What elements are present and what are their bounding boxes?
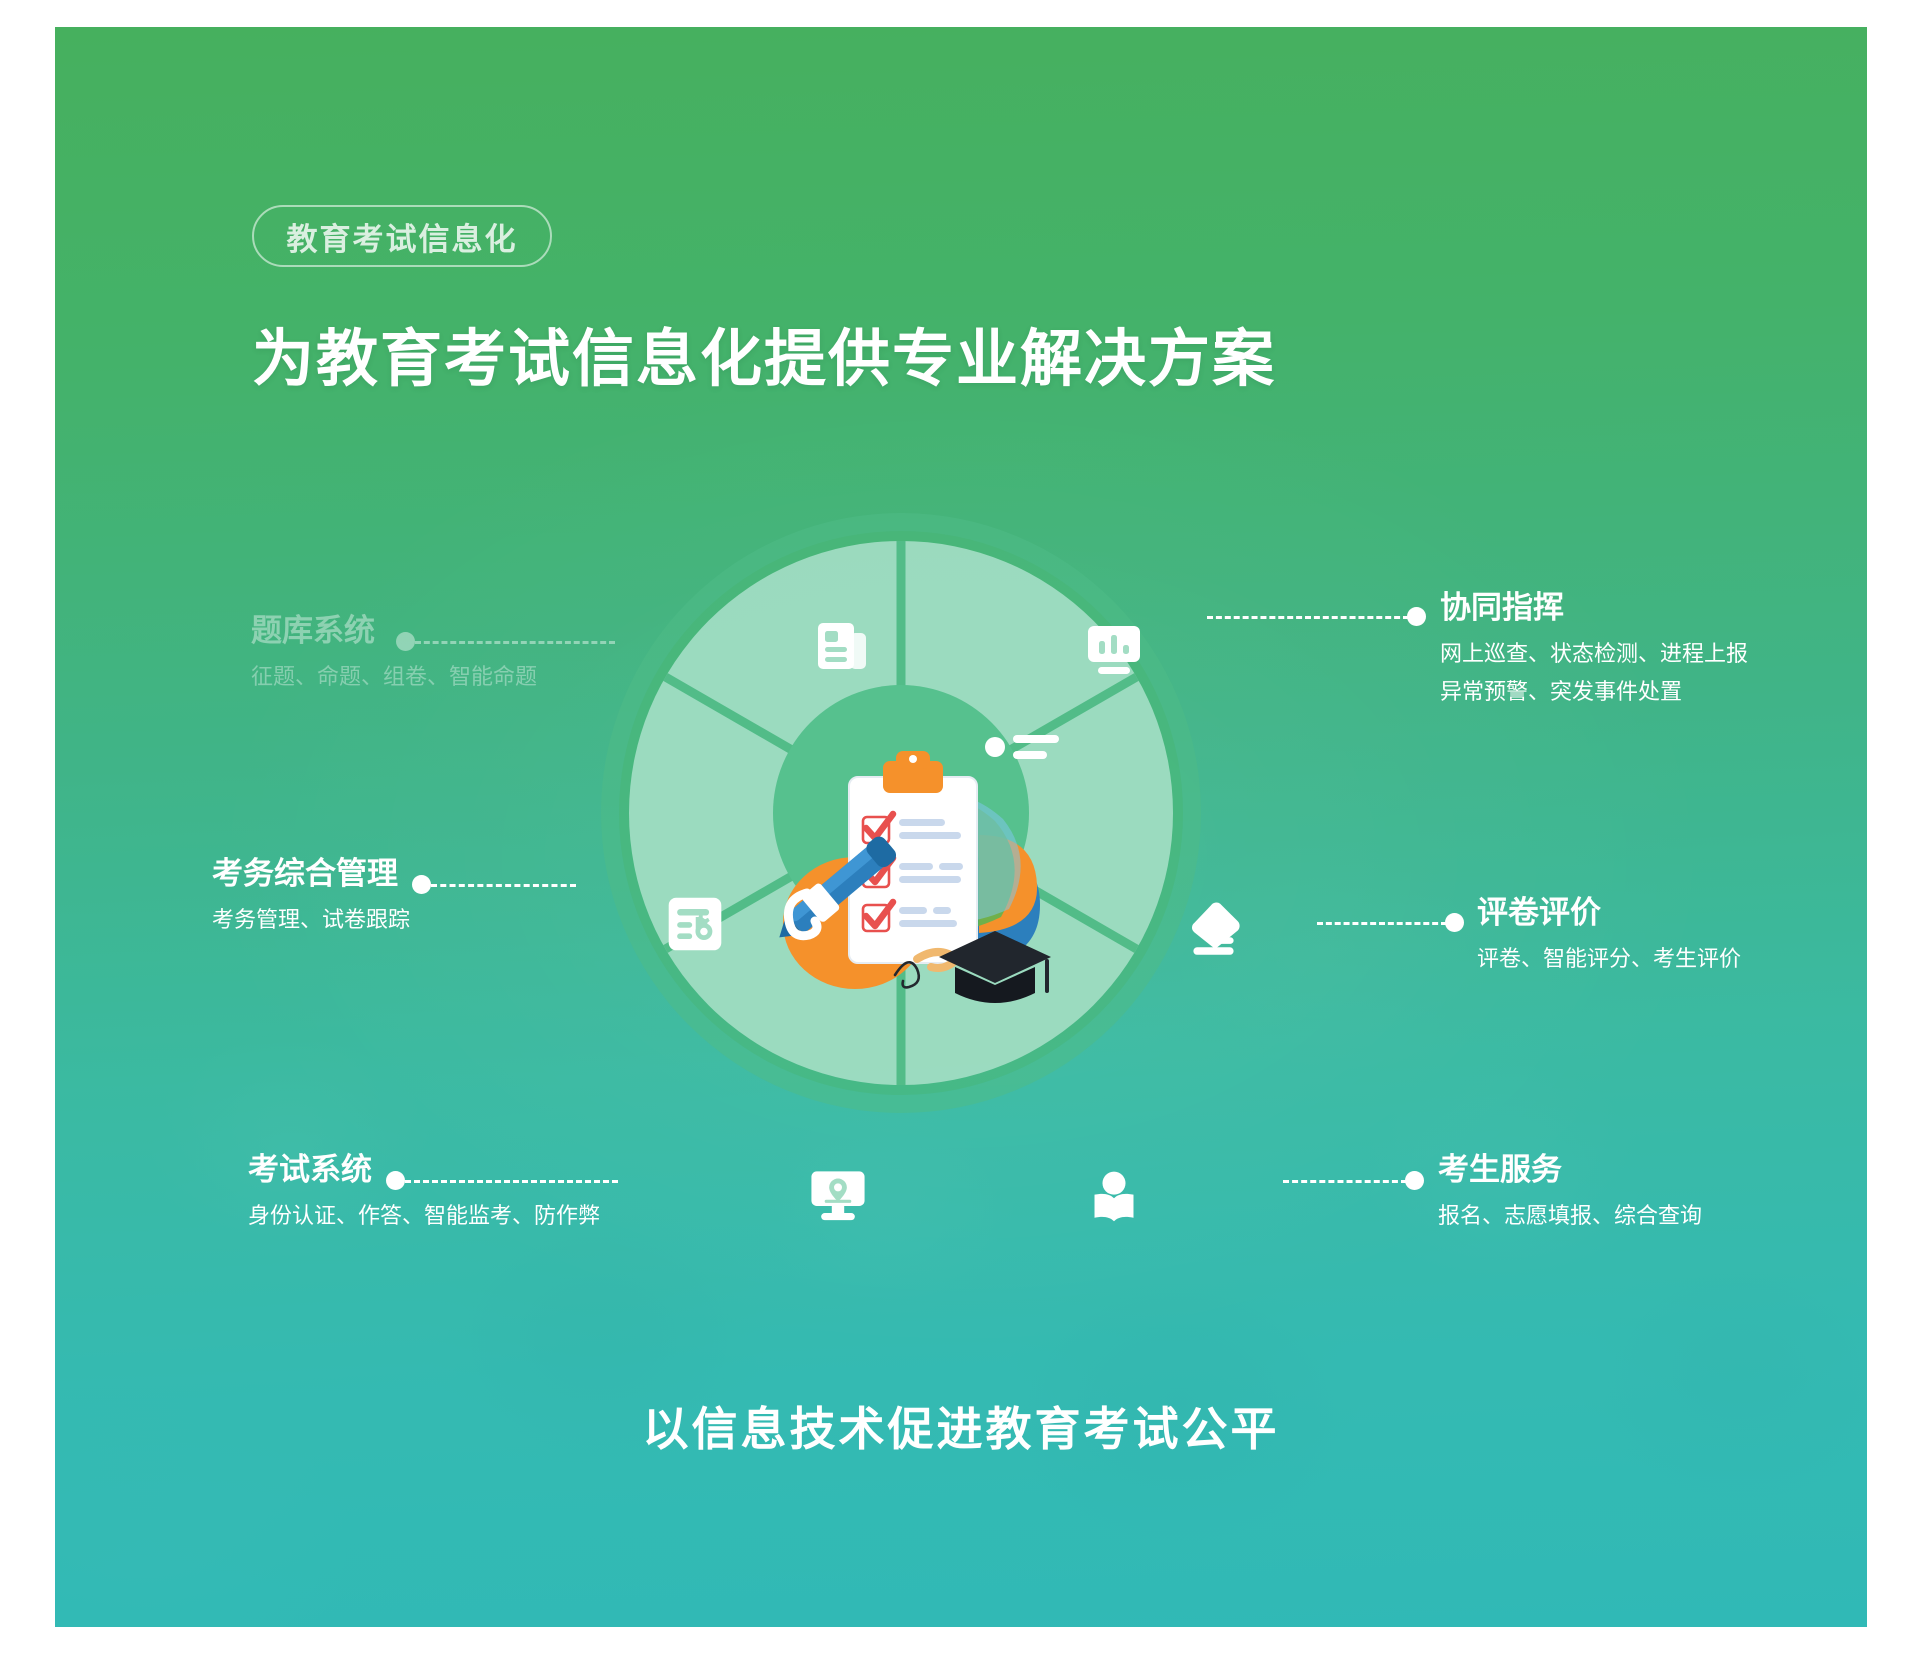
leader-line-question-bank: [415, 641, 615, 644]
leader-line-candidate-service: [1283, 1180, 1407, 1183]
callout-question-bank[interactable]: 题库系统 征题、命题、组卷、智能命题: [251, 615, 671, 694]
callout-subtitle: 身份认证、作答、智能监考、防作弊: [248, 1199, 718, 1233]
callout-subtitle: 评卷、智能评分、考生评价: [1477, 942, 1867, 976]
infographic-banner: 教育考试信息化 为教育考试信息化提供专业解决方案: [0, 0, 1920, 1670]
leader-line-exam-affairs: [431, 884, 576, 887]
category-badge-label: 教育考试信息化: [287, 214, 518, 259]
callout-subtitle: 征题、命题、组卷、智能命题: [251, 660, 671, 694]
category-badge: 教育考试信息化: [252, 205, 552, 267]
callout-subtitle-line-2: 异常预警、突发事件处置: [1440, 675, 1860, 709]
callout-dot-candidate-service: [1405, 1171, 1424, 1190]
callout-dot-exam-affairs: [412, 875, 431, 894]
leader-line-collaborative-command: [1207, 616, 1409, 619]
leader-line-exam-system: [405, 1180, 618, 1183]
callout-exam-system[interactable]: 考试系统 身份认证、作答、智能监考、防作弊: [248, 1154, 718, 1233]
callout-dot-exam-system: [386, 1171, 405, 1190]
callout-grading-evaluation[interactable]: 评卷评价 评卷、智能评分、考生评价: [1477, 897, 1867, 976]
callout-exam-affairs[interactable]: 考务综合管理 考务管理、试卷跟踪: [212, 858, 642, 937]
callout-collaborative-command[interactable]: 协同指挥 网上巡查、状态检测、进程上报 异常预警、突发事件处置: [1440, 592, 1860, 709]
callout-subtitle: 报名、志愿填报、综合查询: [1438, 1199, 1858, 1233]
callout-candidate-service[interactable]: 考生服务 报名、志愿填报、综合查询: [1438, 1154, 1858, 1233]
callout-dot-grading-evaluation: [1445, 913, 1464, 932]
leader-line-grading-evaluation: [1317, 922, 1447, 925]
document-lines-icon: [812, 617, 874, 679]
page-title: 为教育考试信息化提供专业解决方案: [252, 308, 1276, 398]
callout-title: 考生服务: [1438, 1154, 1858, 1185]
banner-tagline: 以信息技术促进教育考试公平: [55, 1393, 1867, 1459]
clipboard-checklist-illustration: [767, 727, 1067, 1027]
callout-title: 协同指挥: [1440, 592, 1860, 623]
callout-dot-collaborative-command: [1407, 607, 1426, 626]
callout-dot-question-bank: [396, 632, 415, 651]
callout-subtitle: 考务管理、试卷跟踪: [212, 903, 642, 937]
eraser-icon: [1185, 897, 1259, 971]
callout-subtitle-line-1: 网上巡查、状态检测、进程上报: [1440, 637, 1860, 671]
bar-chart-monitor-icon: [1083, 619, 1145, 681]
banner-surface: 教育考试信息化 为教育考试信息化提供专业解决方案: [55, 27, 1867, 1627]
settings-list-icon: [664, 893, 730, 959]
person-reading-icon: [1083, 1169, 1153, 1239]
monitor-pin-icon: [807, 1167, 877, 1237]
callout-title: 评卷评价: [1477, 897, 1867, 928]
